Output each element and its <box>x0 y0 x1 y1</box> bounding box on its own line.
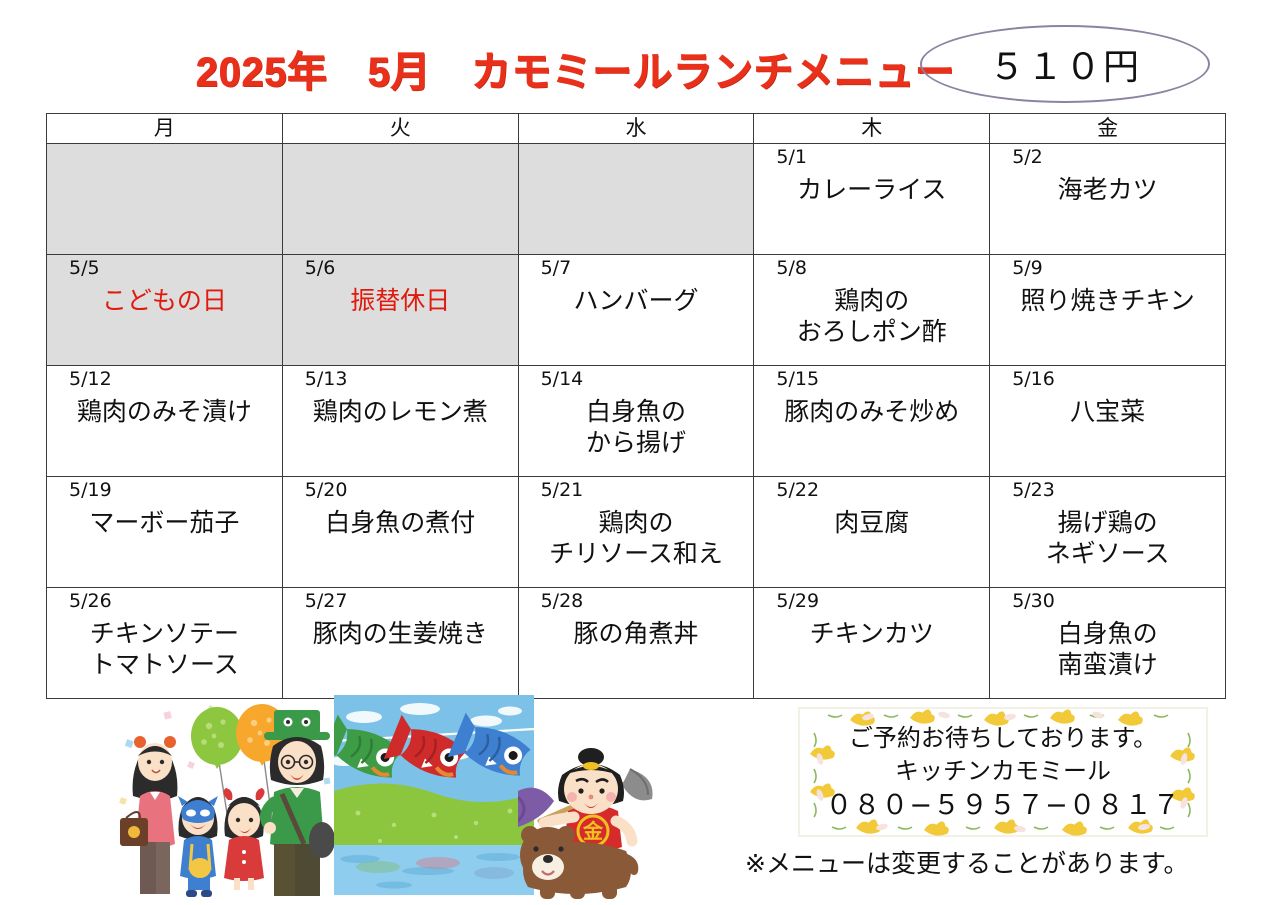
cell-date-label: 5/27 <box>283 588 518 614</box>
cell-date-label: 5/22 <box>754 477 989 503</box>
calendar-cell-5-16: 5/16八宝菜 <box>990 366 1226 477</box>
cell-date-label: 5/19 <box>47 477 282 503</box>
reservation-contact-box: ご予約お待ちしております。 キッチンカモミール ０８０−５９５７−０８１７ <box>798 707 1208 837</box>
cell-menu-label: 豚肉のみそ炒め <box>754 392 989 427</box>
cell-menu-label: 八宝菜 <box>990 392 1225 427</box>
cell-menu-label: 鶏肉のみそ漬け <box>47 392 282 427</box>
calendar-cell-5-27: 5/27豚肉の生姜焼き <box>282 588 518 699</box>
cell-menu-label: 鶏肉の おろしポン酢 <box>754 281 989 347</box>
calendar-cell-5-21: 5/21鶏肉の チリソース和え <box>518 477 754 588</box>
calendar-cell-5-15: 5/15豚肉のみそ炒め <box>754 366 990 477</box>
calendar-cell-5-7: 5/7ハンバーグ <box>518 255 754 366</box>
cell-menu-label: チキンソテー トマトソース <box>47 614 282 680</box>
calendar-cell-5-13: 5/13鶏肉のレモン煮 <box>282 366 518 477</box>
cell-date-label: 5/8 <box>754 255 989 281</box>
cell-date-label <box>47 144 282 170</box>
cell-date-label: 5/2 <box>990 144 1225 170</box>
cell-menu-label: マーボー茄子 <box>47 503 282 538</box>
price-badge: ５１０円 <box>920 25 1210 103</box>
menu-calendar-table: 月 火 水 木 金 5/1カレーライス5/2海老カツ5/5こどもの日5/6振替休… <box>46 113 1226 699</box>
table-row: 5/1カレーライス5/2海老カツ <box>47 144 1226 255</box>
cell-menu-label: 振替休日 <box>283 281 518 316</box>
cell-menu-label: 白身魚の から揚げ <box>519 392 754 458</box>
calendar-cell-5-5: 5/5こどもの日 <box>47 255 283 366</box>
column-header-thursday: 木 <box>754 114 990 144</box>
calendar-cell-5-30: 5/30白身魚の 南蛮漬け <box>990 588 1226 699</box>
price-badge-label: ５１０円 <box>989 38 1141 90</box>
cell-date-label: 5/13 <box>283 366 518 392</box>
table-row: 5/26チキンソテー トマトソース5/27豚肉の生姜焼き5/28豚の角煮丼5/2… <box>47 588 1226 699</box>
cell-date-label: 5/7 <box>519 255 754 281</box>
cell-date-label: 5/26 <box>47 588 282 614</box>
cell-menu-label <box>283 170 518 174</box>
cell-menu-label: 豚の角煮丼 <box>519 614 754 649</box>
calendar-cell-5-14: 5/14白身魚の から揚げ <box>518 366 754 477</box>
calendar-cell-5-28: 5/28豚の角煮丼 <box>518 588 754 699</box>
calendar-cell-empty <box>282 144 518 255</box>
table-header-row: 月 火 水 木 金 <box>47 114 1226 144</box>
cell-date-label: 5/16 <box>990 366 1225 392</box>
column-header-monday: 月 <box>47 114 283 144</box>
cell-date-label: 5/12 <box>47 366 282 392</box>
calendar-cell-5-29: 5/29チキンカツ <box>754 588 990 699</box>
shop-name: キッチンカモミール <box>825 755 1180 788</box>
koinobori-illustration <box>334 695 534 895</box>
calendar-cell-5-2: 5/2海老カツ <box>990 144 1226 255</box>
cell-date-label: 5/21 <box>519 477 754 503</box>
table-row: 5/19マーボー茄子5/20白身魚の煮付5/21鶏肉の チリソース和え5/22肉… <box>47 477 1226 588</box>
cell-date-label: 5/20 <box>283 477 518 503</box>
cell-menu-label: 豚肉の生姜焼き <box>283 614 518 649</box>
cell-date-label: 5/6 <box>283 255 518 281</box>
cell-date-label: 5/14 <box>519 366 754 392</box>
phone-number: ０８０−５９５７−０８１７ <box>825 788 1180 823</box>
page-title: 2025年 5月 カモミールランチメニュー <box>196 38 955 98</box>
kintaro-on-bear-illustration: 金 <box>518 745 693 900</box>
calendar-cell-5-12: 5/12鶏肉のみそ漬け <box>47 366 283 477</box>
calendar-cell-empty <box>47 144 283 255</box>
cell-menu-label: 海老カツ <box>990 170 1225 205</box>
calendar-cell-5-9: 5/9照り焼きチキン <box>990 255 1226 366</box>
calendar-cell-5-26: 5/26チキンソテー トマトソース <box>47 588 283 699</box>
contact-text-block: ご予約お待ちしております。 キッチンカモミール ０８０−５９５７−０８１７ <box>825 722 1180 823</box>
cell-menu-label: カレーライス <box>754 170 989 205</box>
calendar-cell-5-1: 5/1カレーライス <box>754 144 990 255</box>
table-row: 5/12鶏肉のみそ漬け5/13鶏肉のレモン煮5/14白身魚の から揚げ5/15豚… <box>47 366 1226 477</box>
cell-date-label: 5/28 <box>519 588 754 614</box>
calendar-cell-5-6: 5/6振替休日 <box>282 255 518 366</box>
family-with-balloons-illustration <box>116 700 346 900</box>
svg-text:金: 金 <box>582 819 604 843</box>
cell-menu-label: 白身魚の煮付 <box>283 503 518 538</box>
calendar-cell-5-19: 5/19マーボー茄子 <box>47 477 283 588</box>
cell-date-label: 5/29 <box>754 588 989 614</box>
cell-date-label: 5/5 <box>47 255 282 281</box>
cell-date-label: 5/30 <box>990 588 1225 614</box>
calendar-cell-5-8: 5/8鶏肉の おろしポン酢 <box>754 255 990 366</box>
page-header: 2025年 5月 カモミールランチメニュー ５１０円 <box>0 0 1280 108</box>
seasonal-illustrations: 金 <box>46 690 726 905</box>
cell-date-label: 5/1 <box>754 144 989 170</box>
calendar-cell-5-22: 5/22肉豆腐 <box>754 477 990 588</box>
cell-menu-label: チキンカツ <box>754 614 989 649</box>
cell-date-label <box>283 144 518 170</box>
cell-date-label <box>519 144 754 170</box>
column-header-tuesday: 火 <box>282 114 518 144</box>
cell-date-label: 5/15 <box>754 366 989 392</box>
column-header-wednesday: 水 <box>518 114 754 144</box>
table-row: 5/5こどもの日5/6振替休日5/7ハンバーグ5/8鶏肉の おろしポン酢5/9照… <box>47 255 1226 366</box>
column-header-friday: 金 <box>990 114 1226 144</box>
cell-date-label: 5/9 <box>990 255 1225 281</box>
cell-menu-label: 鶏肉の チリソース和え <box>519 503 754 569</box>
calendar-body: 5/1カレーライス5/2海老カツ5/5こどもの日5/6振替休日5/7ハンバーグ5… <box>47 144 1226 699</box>
cell-menu-label: 肉豆腐 <box>754 503 989 538</box>
cell-menu-label <box>47 170 282 174</box>
menu-change-notice: ※メニューは変更することがあります。 <box>745 848 1188 880</box>
cell-menu-label: ハンバーグ <box>519 281 754 316</box>
cell-menu-label <box>519 170 754 174</box>
cell-menu-label: 照り焼きチキン <box>990 281 1225 316</box>
calendar-cell-5-23: 5/23揚げ鶏の ネギソース <box>990 477 1226 588</box>
cell-menu-label: こどもの日 <box>47 281 282 316</box>
cell-date-label: 5/23 <box>990 477 1225 503</box>
calendar-cell-empty <box>518 144 754 255</box>
cell-menu-label: 揚げ鶏の ネギソース <box>990 503 1225 569</box>
cell-menu-label: 白身魚の 南蛮漬け <box>990 614 1225 680</box>
calendar-cell-5-20: 5/20白身魚の煮付 <box>282 477 518 588</box>
cell-menu-label: 鶏肉のレモン煮 <box>283 392 518 427</box>
reservation-message: ご予約お待ちしております。 <box>825 722 1180 755</box>
